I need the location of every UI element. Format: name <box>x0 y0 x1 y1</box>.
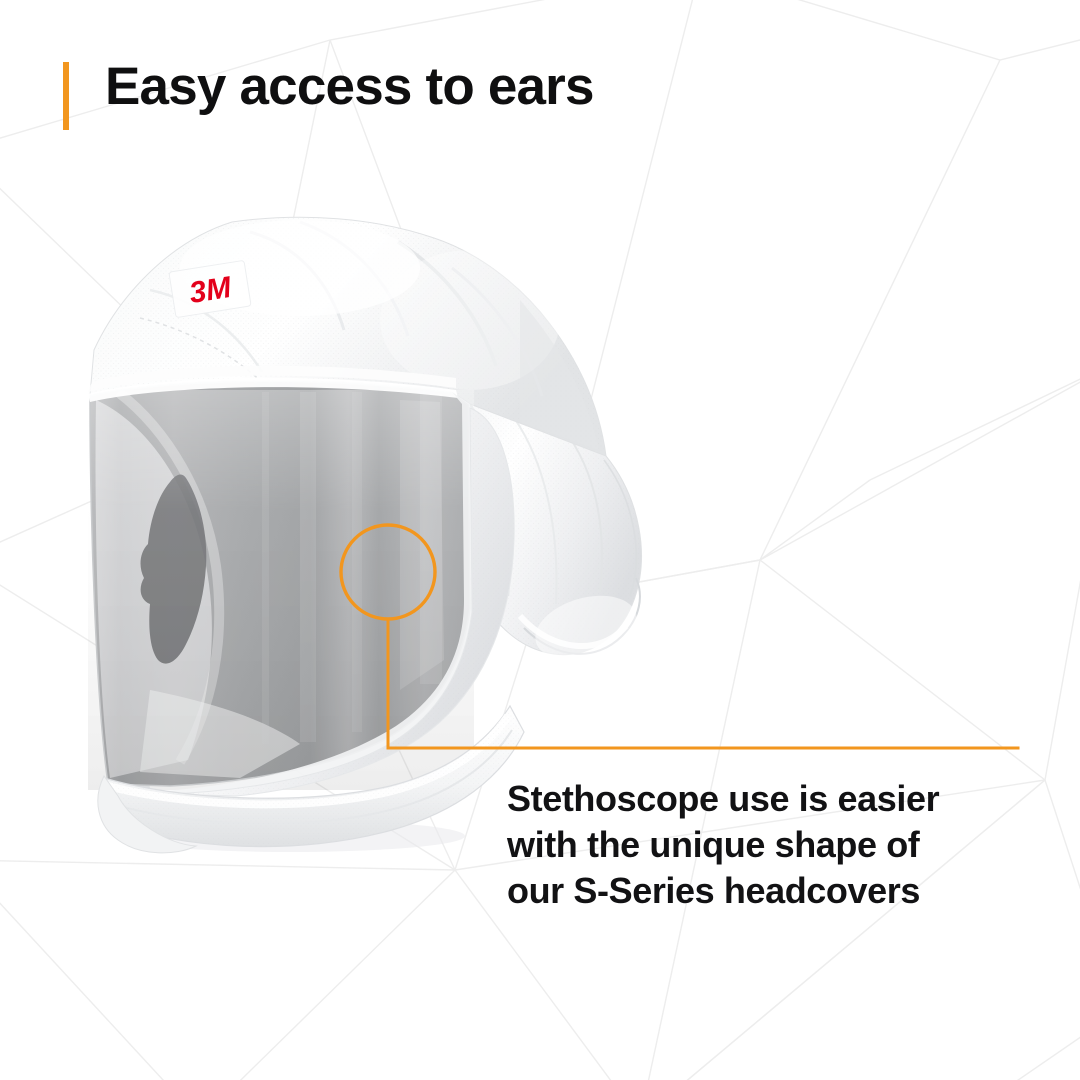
callout-annotation <box>0 0 1080 1080</box>
callout-leader-line <box>388 619 1018 748</box>
callout-line-3: our S-Series headcovers <box>507 868 1037 914</box>
poster-canvas: 3M <box>0 0 1080 1080</box>
callout-line-1: Stethoscope use is easier <box>507 776 1037 822</box>
callout-text: Stethoscope use is easier with the uniqu… <box>507 776 1037 914</box>
callout-circle <box>341 525 435 619</box>
callout-line-2: with the unique shape of <box>507 822 1037 868</box>
